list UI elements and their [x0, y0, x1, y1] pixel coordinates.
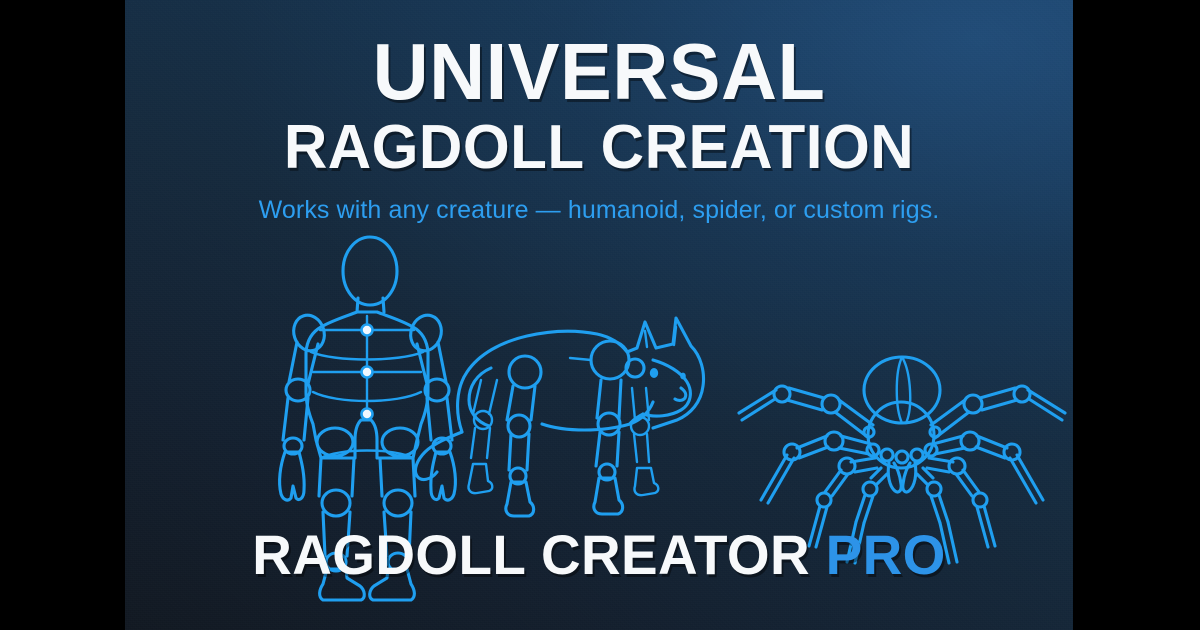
headline-block: UNIVERSAL RAGDOLL CREATION Works with an…: [125, 0, 1073, 225]
page-title-primary: UNIVERSAL: [139, 0, 1059, 111]
product-edition-badge: PRO: [826, 523, 946, 586]
page-title-secondary: RAGDOLL CREATION: [139, 111, 1059, 179]
product-name: RAGDOLL CREATOR PRO: [134, 527, 1063, 583]
poster-banner: UNIVERSAL RAGDOLL CREATION Works with an…: [0, 0, 1200, 630]
product-lockup: RAGDOLL CREATOR PRO: [125, 527, 1073, 583]
poster-canvas: UNIVERSAL RAGDOLL CREATION Works with an…: [125, 0, 1073, 630]
tagline-text: Works with any creature — humanoid, spid…: [125, 179, 1073, 225]
product-name-base: RAGDOLL CREATOR: [252, 523, 810, 586]
letterbox-bar-left: [0, 0, 125, 630]
dog-ragdoll-icon: [415, 318, 703, 516]
letterbox-bar-right: [1073, 0, 1200, 630]
